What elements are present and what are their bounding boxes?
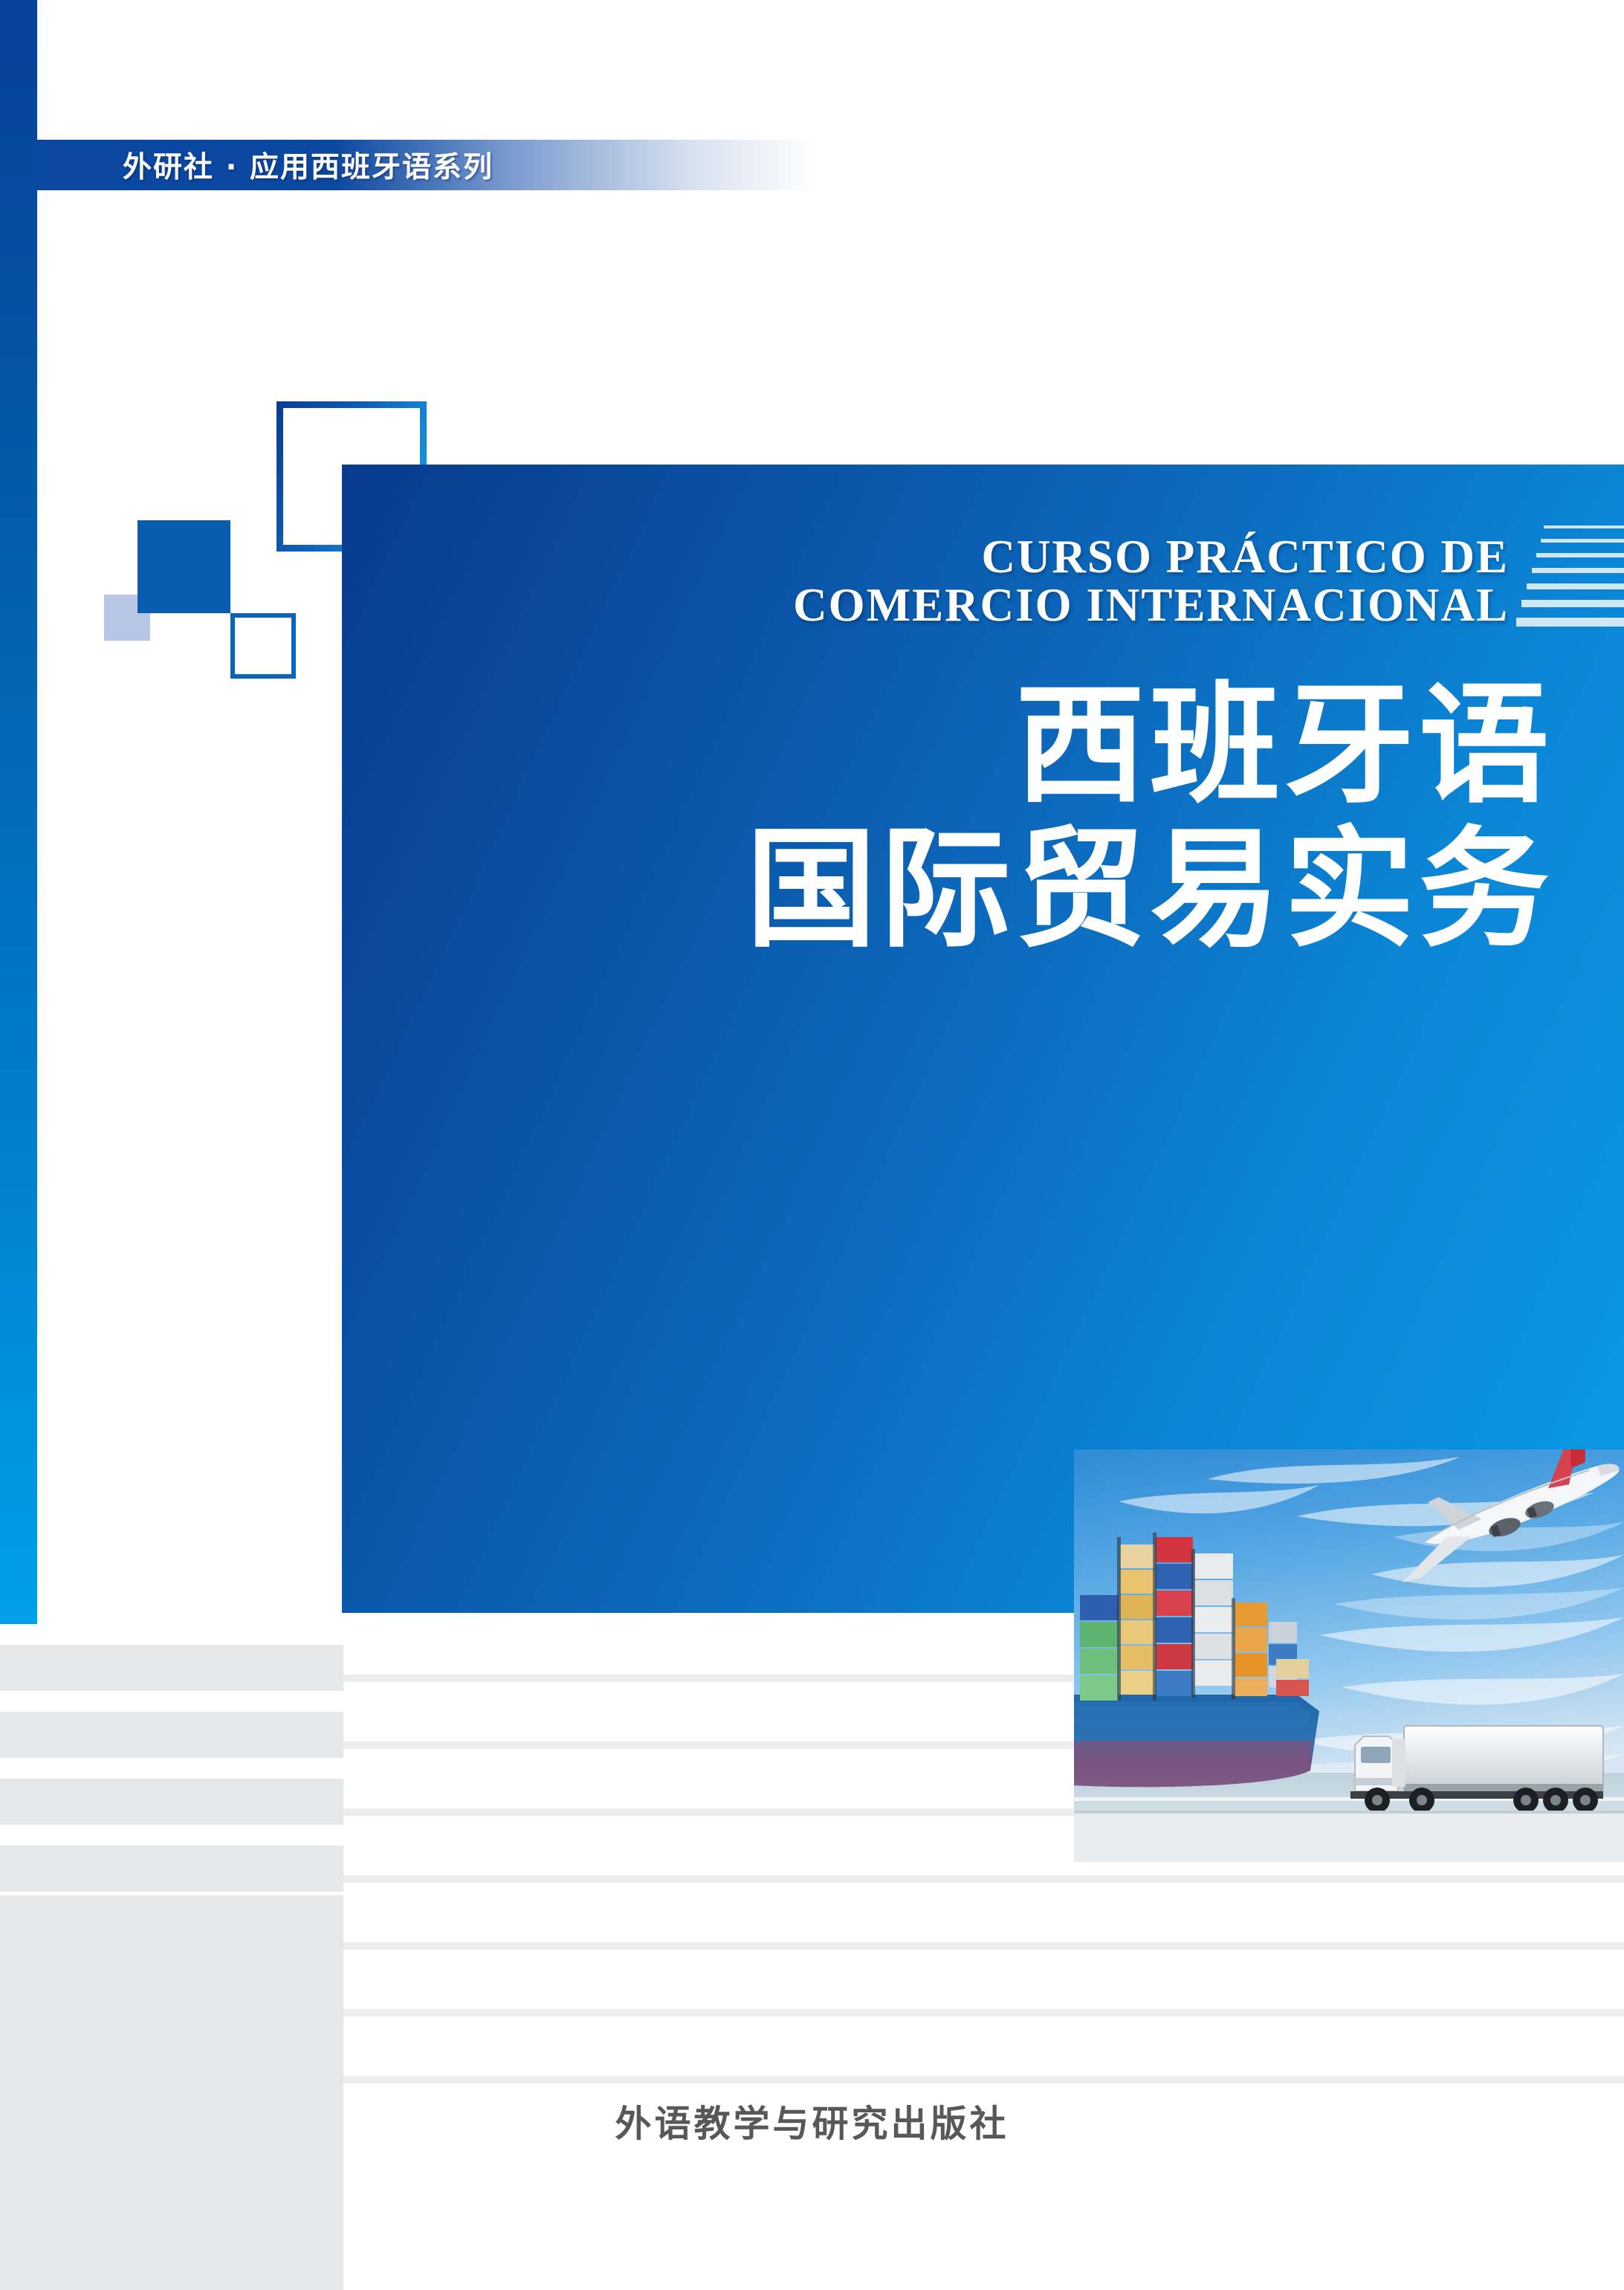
- horizontal-rule-4: [1532, 568, 1624, 573]
- stripe-line-right-7: [343, 2076, 1624, 2083]
- stripe-line-right-4: [343, 1875, 1624, 1883]
- horizontal-rule-3: [1536, 553, 1624, 557]
- spanish-title: CURSO PRÁCTICO DE COMERCIO INTERNACIONAL: [342, 533, 1509, 630]
- horizontal-rule-5: [1527, 583, 1624, 589]
- square-outline-small-icon: [230, 613, 296, 679]
- chinese-title: 西班牙语 国际贸易实务: [342, 674, 1553, 963]
- square-filled-medium-icon: [138, 520, 230, 613]
- chinese-title-line1: 西班牙语: [1015, 670, 1553, 821]
- spanish-title-line2: COMERCIO INTERNACIONAL: [342, 581, 1509, 630]
- main-title-panel: CURSO PRÁCTICO DE COMERCIO INTERNACIONAL…: [342, 465, 1624, 1613]
- bottom-gray-column: [0, 1895, 343, 2290]
- spanish-title-line1: CURSO PRÁCTICO DE: [981, 531, 1509, 583]
- stripe-band-left-4: [0, 1846, 343, 1892]
- left-spine-bar: [0, 0, 37, 1624]
- cover-photo-logistics: [1074, 1449, 1624, 1862]
- stripe-line-right-5: [343, 1942, 1624, 1950]
- chinese-title-line2: 国际贸易实务: [342, 818, 1553, 963]
- logistics-illustration-icon: [1074, 1449, 1624, 1862]
- stripe-band-left-2: [0, 1712, 343, 1758]
- horizontal-rule-1: [1544, 525, 1624, 528]
- horizontal-rule-2: [1541, 539, 1624, 543]
- stripe-band-left-1: [0, 1645, 343, 1691]
- series-banner: 外研社 · 应用西班牙语系列: [37, 140, 814, 190]
- series-banner-label: 外研社 · 应用西班牙语系列: [123, 144, 494, 186]
- horizontal-rule-7: [1516, 618, 1624, 627]
- publisher-name: 外语教学与研究出版社: [0, 2095, 1624, 2147]
- horizontal-rules-decoration: [1516, 525, 1624, 637]
- stripe-line-right-6: [343, 2009, 1624, 2016]
- stripe-band-left-3: [0, 1779, 343, 1825]
- horizontal-rule-6: [1521, 600, 1624, 607]
